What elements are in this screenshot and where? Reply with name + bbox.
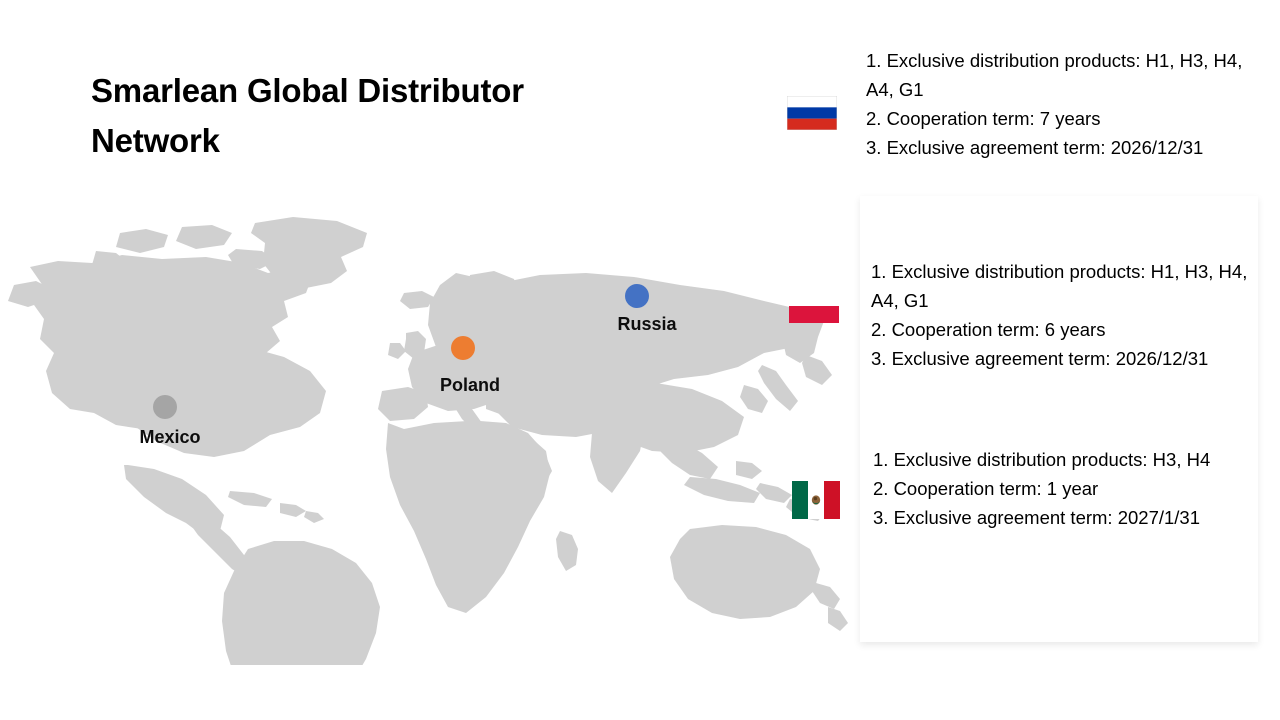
map-label-russia: Russia — [607, 314, 687, 335]
map-label-poland: Poland — [421, 375, 519, 396]
map-marker-mexico[interactable] — [153, 395, 177, 419]
distributor-info-russia: 1. Exclusive distribution products: H1, … — [866, 46, 1244, 162]
page-title: Smarlean Global Distributor Network — [91, 66, 711, 166]
map-label-mexico: Mexico — [121, 427, 219, 448]
distributor-info-mexico: 1. Exclusive distribution products: H3, … — [873, 445, 1251, 532]
flag-poland-icon — [789, 289, 839, 323]
flag-mexico-icon — [792, 481, 840, 519]
map-marker-poland[interactable] — [451, 336, 475, 360]
flag-russia-icon — [787, 96, 837, 130]
distributor-info-poland: 1. Exclusive distribution products: H1, … — [871, 257, 1249, 373]
map-marker-russia[interactable] — [625, 284, 649, 308]
